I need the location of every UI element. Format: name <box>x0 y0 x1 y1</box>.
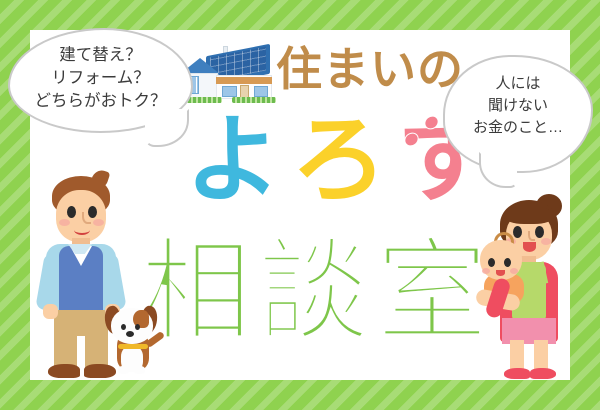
baby-cheek-blush-shape <box>482 268 490 274</box>
baby-eye-shape <box>488 258 495 267</box>
hedge-shape <box>232 97 276 103</box>
dog-eye-shape <box>135 324 140 330</box>
cheek-blush-shape <box>541 238 551 245</box>
house-wood-band <box>216 77 272 84</box>
cheek-blush-shape <box>93 219 104 226</box>
left-shoe-shape <box>504 368 530 379</box>
dog-illustration <box>105 300 167 380</box>
title-yorozu-char-1: よ <box>185 104 291 216</box>
baby-mouth-shape <box>496 270 505 276</box>
leg-gap-shape <box>77 336 85 370</box>
hair-fringe-shape <box>504 206 554 224</box>
right-shoe-shape <box>530 368 556 379</box>
house-illustration <box>176 44 280 104</box>
dog-paw-shape <box>118 366 129 374</box>
eye-shape <box>513 226 522 238</box>
eye-shape <box>67 206 76 218</box>
baby-eye-shape <box>504 258 511 267</box>
banner-canvas: 住まいの よろす 相談室 建て替え？ リフォーム？ どちらがおトク？ 人には 聞… <box>0 0 600 410</box>
eye-shape <box>535 226 544 238</box>
dog-collar-shape <box>118 344 148 349</box>
mouth-shape <box>74 225 90 235</box>
baby-cheek-blush-shape <box>510 268 518 274</box>
left-shoe-shape <box>48 364 80 378</box>
title-sumai: 住まいの <box>276 46 464 92</box>
cheek-blush-shape <box>59 219 70 226</box>
bubble-left-line-2: リフォーム？ <box>10 67 191 90</box>
mother-illustration <box>486 196 582 384</box>
speech-bubble-left: 建て替え？ リフォーム？ どちらがおトク？ <box>8 28 193 133</box>
window-shape <box>254 86 268 97</box>
bubble-right-line-2: 聞けない <box>445 95 591 117</box>
left-hand-shape <box>43 304 58 319</box>
bubble-left-line-1: 建て替え？ <box>10 44 191 67</box>
nose-shape <box>82 212 91 224</box>
title-soudan: 相談室 <box>140 236 494 348</box>
dog-eye-shape <box>121 324 126 330</box>
dog-nose-shape <box>126 331 134 337</box>
dog-paw-shape <box>134 366 145 374</box>
window-shape <box>222 86 237 97</box>
speech-bubble-right: 人には 聞けない お金のこと… <box>443 55 593 173</box>
bubble-right-line-1: 人には <box>445 73 591 95</box>
title-yorozu-char-2: ろ <box>291 104 397 216</box>
bubble-right-line-3: お金のこと… <box>445 117 591 139</box>
